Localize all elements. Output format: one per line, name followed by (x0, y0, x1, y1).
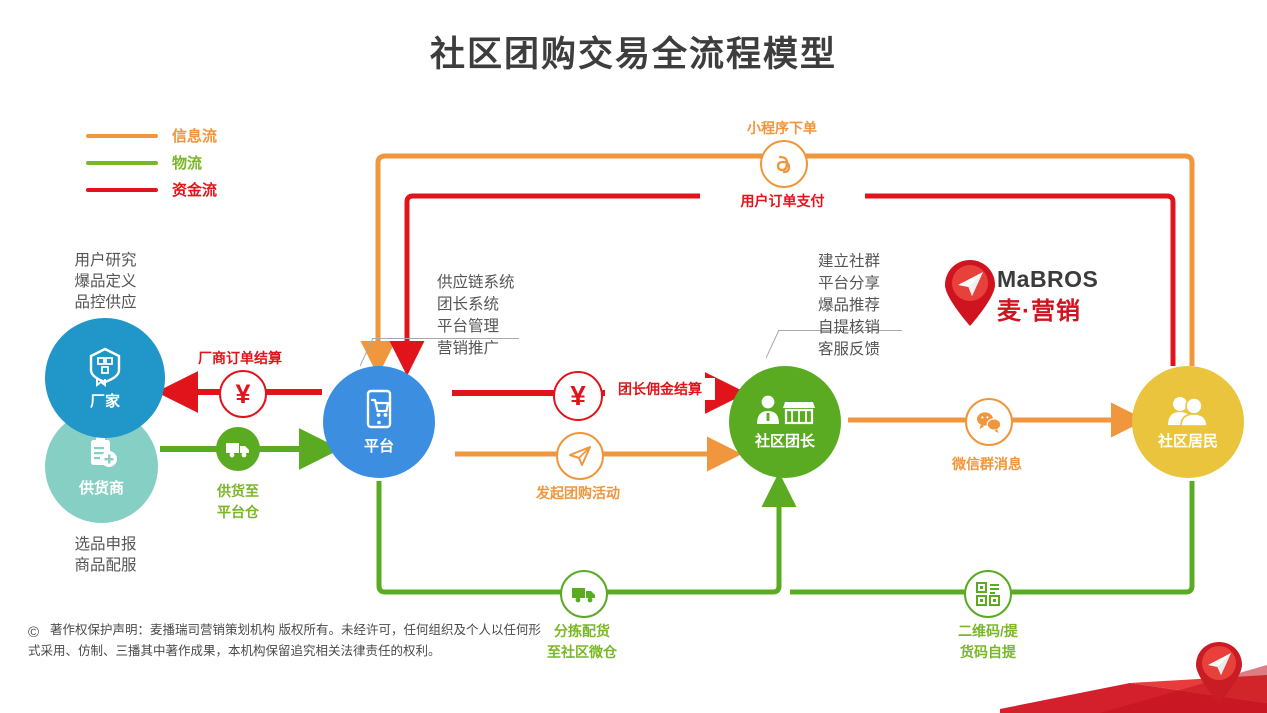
flow-label-leader-commission: 团长佣金结算 (605, 378, 715, 400)
node-factory-label: 厂家 (90, 390, 120, 411)
flow-label-miniprogram-order: 小程序下单 (712, 118, 852, 138)
person-shop-icon (754, 394, 816, 428)
flow-label-user-order-payment: 用户订单支付 (700, 189, 865, 213)
node-leader-label: 社区团长 (755, 430, 815, 451)
flow-label-supply-to-warehouse-line-2: 平台仓 (188, 502, 288, 523)
flow-label-wechat-group-msg: 微信群消息 (932, 454, 1042, 474)
annotation-leader-line-4: 自提核销 (818, 317, 908, 339)
diagram-canvas: 社区团购交易全流程模型 信息流 物流 资金流 (0, 0, 1267, 713)
flow-label-supply-to-warehouse-line-1: 供货至 (188, 481, 288, 502)
annotation-supplier-line-1: 选品申报 (38, 534, 173, 555)
node-platform[interactable]: 平台 (323, 366, 435, 478)
logo-text-en: MaBROS (997, 266, 1098, 293)
wechat-icon (965, 398, 1013, 446)
annotation-factory-line-3: 品控供应 (38, 292, 173, 313)
annotation-supplier-line-2: 商品配服 (38, 555, 173, 576)
ribbon-pin-icon (1193, 640, 1245, 706)
annotation-platform-line-2: 团长系统 (437, 294, 537, 316)
annotation-leader-line-2: 平台分享 (818, 273, 908, 295)
mini-program-icon (760, 140, 808, 188)
annotation-leader: 建立社群 平台分享 爆品推荐 自提核销 客服反馈 (818, 251, 908, 361)
copyright-text: 著作权保护声明：麦播瑞司营销策划机构 版权所有。未经许可，任何组织及个人以任何形… (28, 623, 541, 658)
annotation-platform-line-4: 营销推广 (437, 338, 537, 360)
node-resident[interactable]: 社区居民 (1132, 366, 1244, 478)
annotation-platform: 供应链系统 团长系统 平台管理 营销推广 (437, 272, 537, 360)
brand-logo: MaBROS 麦·营销 (942, 258, 1092, 328)
annotation-leader-line-3: 爆品推荐 (818, 295, 908, 317)
people-icon (1164, 394, 1212, 428)
mobile-cart-icon (359, 389, 399, 433)
truck-icon-sorting-delivery (560, 570, 608, 618)
logo-text-cn: 麦·营销 (997, 291, 1098, 326)
annotation-factory-line-2: 爆品定义 (38, 271, 173, 292)
callout-leader-line-leader (766, 330, 796, 360)
flow-label-qrcode-pickup-line-1: 二维码/提 (918, 621, 1058, 642)
node-supplier-label: 供货商 (79, 477, 124, 498)
annotation-leader-line-5: 客服反馈 (818, 339, 908, 361)
node-resident-label: 社区居民 (1158, 430, 1218, 451)
annotation-factory: 用户研究 爆品定义 品控供应 (38, 250, 173, 313)
annotation-supplier: 选品申报 商品配服 (38, 534, 173, 576)
annotation-platform-line-3: 平台管理 (437, 316, 537, 338)
copyright-notice: © 著作权保护声明：麦播瑞司营销策划机构 版权所有。未经许可，任何组织及个人以任… (28, 620, 548, 662)
node-platform-label: 平台 (364, 435, 394, 456)
clipboard-add-icon (82, 435, 122, 475)
callout-leader-line-platform (360, 338, 390, 368)
annotation-factory-line-1: 用户研究 (38, 250, 173, 271)
annotation-platform-line-1: 供应链系统 (437, 272, 537, 294)
truck-icon-supply-to-warehouse (216, 427, 260, 471)
qrcode-icon (964, 570, 1012, 618)
yen-icon-vendor-settlement: ¥ (219, 370, 267, 418)
map-pin-arrow-icon (942, 258, 998, 328)
annotation-leader-line-1: 建立社群 (818, 251, 908, 273)
yen-icon-leader-commission: ¥ (553, 371, 603, 421)
paper-plane-icon (556, 432, 604, 480)
node-factory[interactable]: 厂家 (45, 318, 165, 438)
quality-badge-icon (84, 346, 126, 388)
flow-label-launch-group-buy: 发起团购活动 (518, 483, 638, 503)
flow-label-vendor-settlement: 厂商订单结算 (180, 348, 300, 368)
flow-label-supply-to-warehouse: 供货至 平台仓 (188, 481, 288, 523)
node-leader[interactable]: 社区团长 (729, 366, 841, 478)
copyright-icon: © (28, 622, 39, 643)
